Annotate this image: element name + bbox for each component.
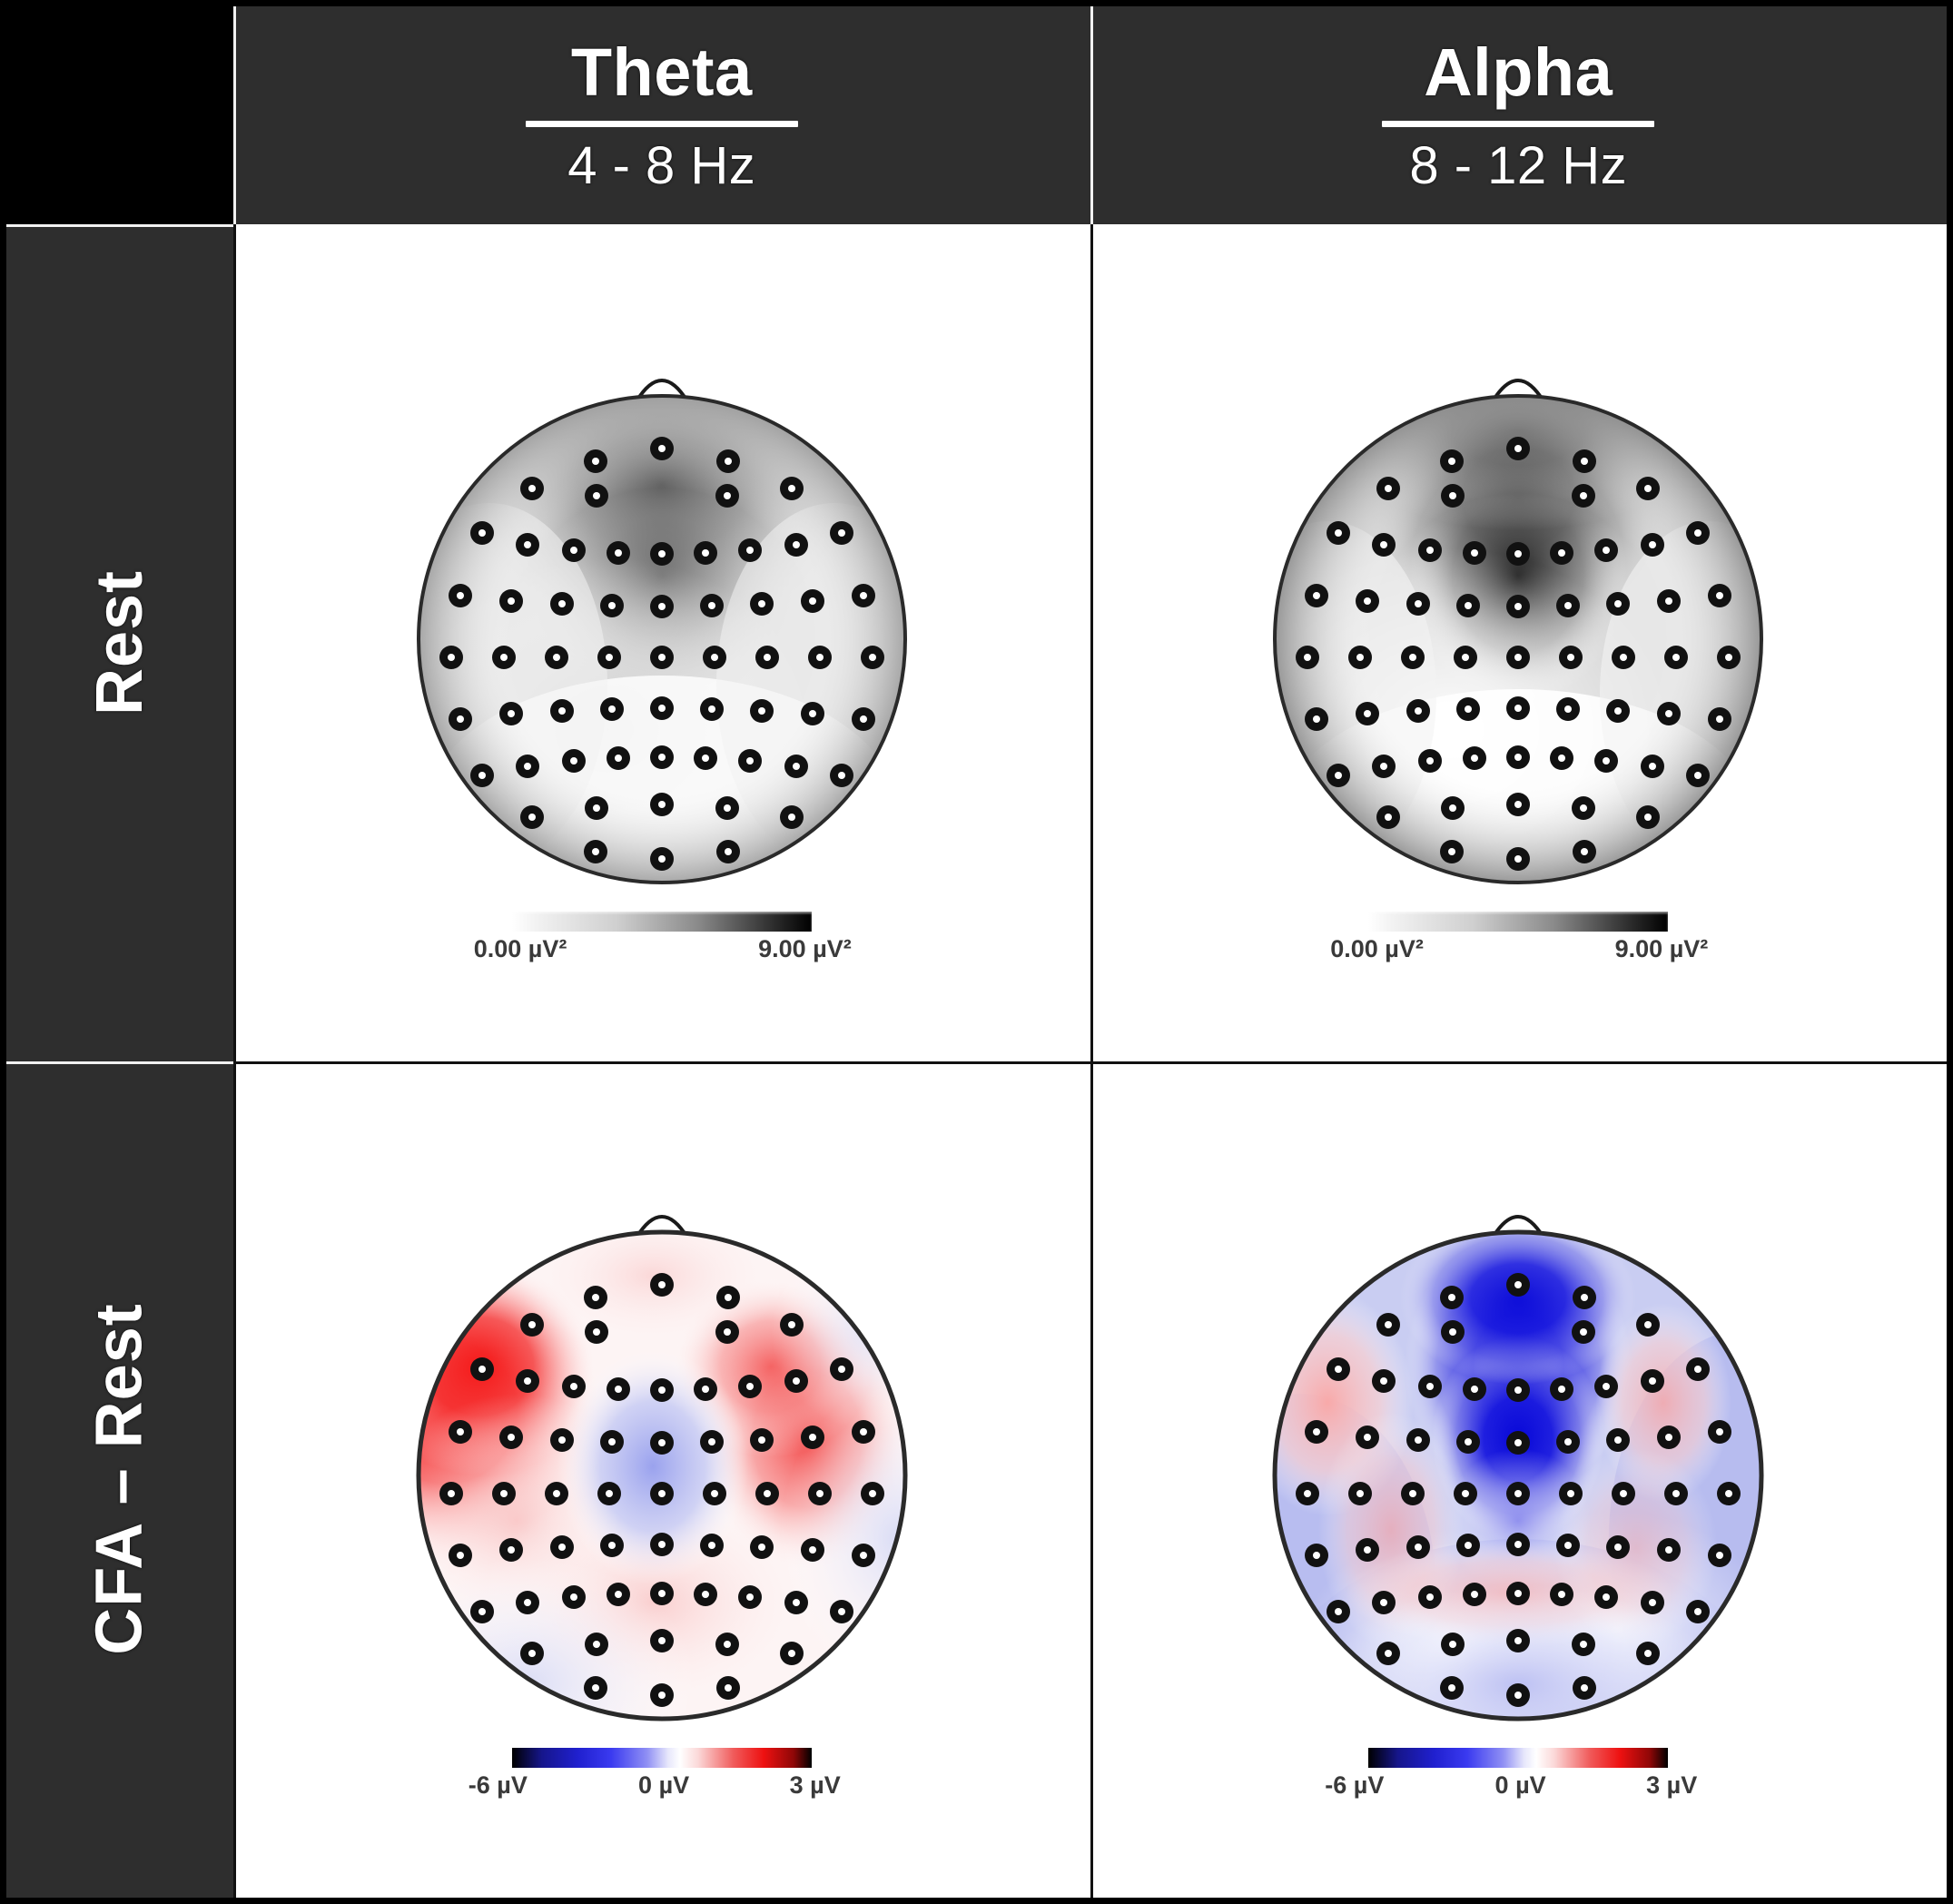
column-range-alpha: 8 - 12 Hz: [1382, 140, 1654, 192]
panel-rest-theta: 0.00 µV² 9.00 µV²: [233, 224, 1090, 1061]
colorbar-rest-theta: 0.00 µV² 9.00 µV²: [449, 912, 875, 972]
corner-cell: [6, 6, 233, 224]
topoplot-cfa-rest-theta: [380, 1139, 943, 1739]
column-title-alpha: Alpha: [1382, 39, 1654, 106]
figure-grid: Theta 4 - 8 Hz Alpha 8 - 12 Hz Rest: [6, 6, 1947, 1898]
colorbar-min-label-alpha: 0.00 µV²: [1330, 935, 1424, 963]
colorbar-min-label: 0.00 µV²: [474, 935, 567, 963]
row-label-rest: Rest: [6, 224, 233, 1061]
column-header-rule-theta: [526, 121, 798, 127]
row-divider-theta: [233, 1061, 1090, 1064]
header-separator-left: [233, 6, 236, 224]
row-label-rest-text: Rest: [83, 570, 157, 715]
colorbar-mid-label-diff-alpha: 0 µV: [1495, 1771, 1546, 1800]
rowlabel-separator-top: [6, 224, 233, 227]
colorbar-gradient-power-alpha: [1368, 912, 1668, 932]
colorbar-max-label-diff: 3 µV: [790, 1771, 841, 1800]
topoplot-rest-theta: [380, 303, 943, 903]
colorbar-gradient-diff-alpha: [1368, 1748, 1668, 1768]
colorbar-max-label-alpha: 9.00 µV²: [1615, 935, 1709, 963]
colorbar-mid-label-diff: 0 µV: [638, 1771, 689, 1800]
panel-cfa-rest-theta: -6 µV 0 µV 3 µV: [233, 1061, 1090, 1899]
column-header-rule-alpha: [1382, 121, 1654, 127]
colorbar-min-label-diff: -6 µV: [469, 1771, 528, 1800]
row-divider-alpha: [1090, 1061, 1948, 1064]
panel-divider-left-2: [233, 1061, 236, 1899]
colorbar-gradient-power: [512, 912, 812, 932]
colorbar-cfa-rest-alpha: -6 µV 0 µV 3 µV: [1305, 1748, 1731, 1808]
panel-cfa-rest-alpha: -6 µV 0 µV 3 µV: [1090, 1061, 1948, 1899]
topoplot-rest-alpha: [1237, 303, 1800, 903]
column-header-theta: Theta 4 - 8 Hz: [233, 6, 1090, 224]
row-label-cfa-rest-text: CFA – Rest: [83, 1304, 157, 1655]
colorbar-gradient-diff-theta: [512, 1748, 812, 1768]
panel-divider-middle-2: [1090, 1061, 1093, 1899]
colorbar-cfa-rest-theta: -6 µV 0 µV 3 µV: [449, 1748, 875, 1808]
colorbar-max-label-diff-alpha: 3 µV: [1646, 1771, 1697, 1800]
header-separator-middle: [1090, 6, 1093, 224]
column-range-theta: 4 - 8 Hz: [526, 140, 798, 192]
eeg-topography-figure: Theta 4 - 8 Hz Alpha 8 - 12 Hz Rest: [0, 0, 1953, 1904]
colorbar-rest-alpha: 0.00 µV² 9.00 µV²: [1305, 912, 1731, 972]
colorbar-max-label: 9.00 µV²: [758, 935, 852, 963]
colorbar-min-label-diff-alpha: -6 µV: [1325, 1771, 1384, 1800]
panel-rest-alpha: 0.00 µV² 9.00 µV²: [1090, 224, 1948, 1061]
panel-divider-middle-1: [1090, 224, 1093, 1061]
rowlabel-separator-bottom: [6, 1061, 233, 1064]
column-title-theta: Theta: [526, 39, 798, 106]
panel-divider-left-1: [233, 224, 236, 1061]
row-label-cfa-rest: CFA – Rest: [6, 1061, 233, 1899]
topoplot-cfa-rest-alpha: [1237, 1139, 1800, 1739]
column-header-alpha: Alpha 8 - 12 Hz: [1090, 6, 1948, 224]
